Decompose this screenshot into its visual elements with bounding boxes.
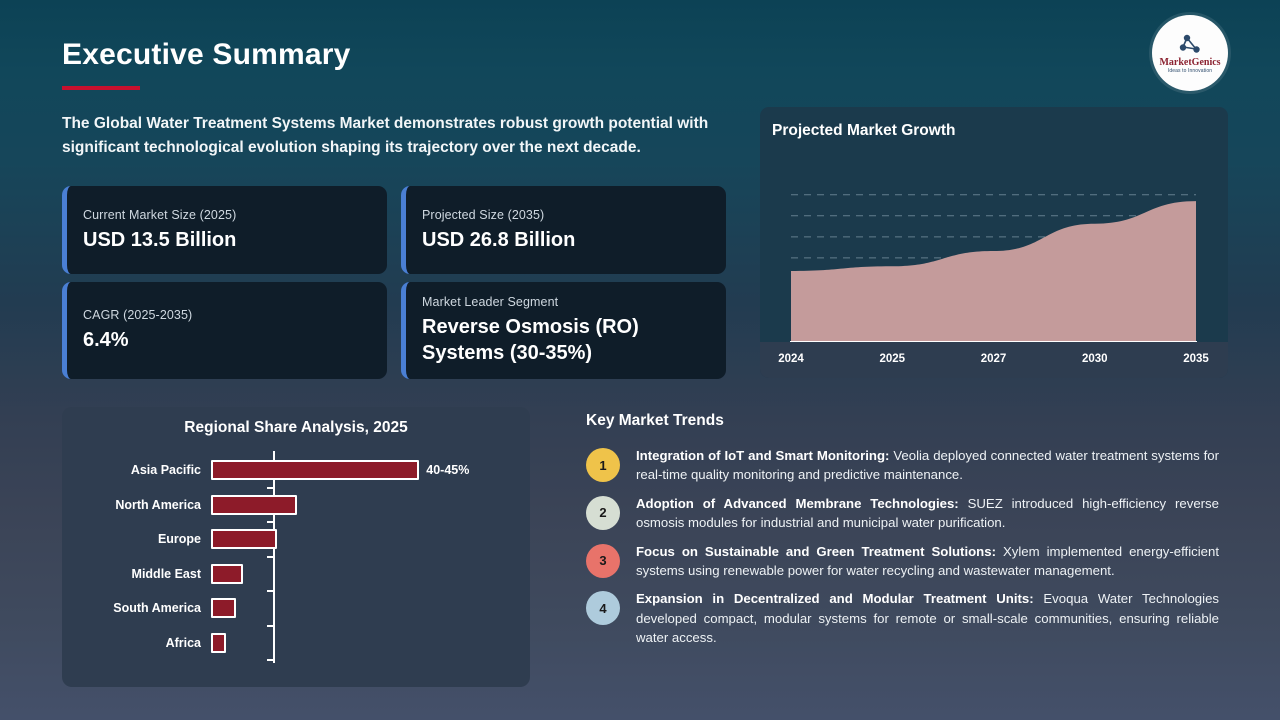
trend-text: Expansion in Decentralized and Modular T…	[636, 589, 1219, 647]
kpi-card-grid: Current Market Size (2025) USD 13.5 Bill…	[62, 186, 727, 379]
trend-item: 1Integration of IoT and Smart Monitoring…	[586, 446, 1226, 485]
trend-number-badge: 4	[586, 591, 620, 625]
x-axis-tick-label: 2025	[879, 353, 905, 365]
bar-category-label: Asia Pacific	[62, 463, 211, 477]
trend-item: 2Adoption of Advanced Membrane Technolog…	[586, 494, 1226, 533]
bar-category-label: Europe	[62, 532, 211, 546]
bar-fill	[211, 460, 419, 480]
bar-chart-row: North America	[62, 488, 530, 522]
bar-track	[211, 591, 530, 625]
trend-title: Focus on Sustainable and Green Treatment…	[636, 544, 996, 559]
kpi-label: Projected Size (2035)	[422, 208, 710, 222]
bar-track	[211, 488, 530, 522]
bar-category-label: South America	[62, 601, 211, 615]
x-axis-tick-labels: 20242025202720302035	[760, 353, 1228, 373]
area-series-fill	[791, 201, 1196, 342]
logo-tagline: Ideas to Innovation	[1168, 69, 1212, 74]
bar-value-label: 40-45%	[426, 463, 469, 477]
bar-chart-row: South America	[62, 591, 530, 625]
title-accent-rule	[62, 86, 140, 90]
kpi-label: Market Leader Segment	[422, 295, 710, 309]
bar-chart-row: Africa	[62, 626, 530, 660]
bar-track: 40-45%	[211, 453, 530, 487]
chart-title: Regional Share Analysis, 2025	[62, 419, 530, 437]
projected-market-growth-panel: Projected Market Growth 2024202520272030…	[760, 107, 1228, 378]
bar-track	[211, 626, 530, 660]
bar-category-label: Middle East	[62, 567, 211, 581]
bar-fill	[211, 564, 243, 584]
network-nodes-icon	[1177, 33, 1203, 57]
bar-track	[211, 557, 530, 591]
page-title: Executive Summary	[62, 38, 351, 72]
intro-paragraph: The Global Water Treatment Systems Marke…	[62, 112, 734, 160]
bar-chart-row: Asia Pacific40-45%	[62, 453, 530, 487]
kpi-card-projected-size: Projected Size (2035) USD 26.8 Billion	[401, 186, 726, 274]
kpi-value: USD 13.5 Billion	[83, 227, 371, 253]
bar-chart: Asia Pacific40-45%North AmericaEuropeMid…	[62, 451, 530, 681]
trend-title: Expansion in Decentralized and Modular T…	[636, 591, 1034, 606]
logo-name: MarketGenics	[1159, 58, 1220, 68]
trend-item: 4Expansion in Decentralized and Modular …	[586, 589, 1226, 647]
bar-chart-row: Europe	[62, 522, 530, 556]
kpi-value: USD 26.8 Billion	[422, 227, 710, 253]
trend-number-badge: 3	[586, 544, 620, 578]
chart-title: Projected Market Growth	[772, 122, 955, 140]
x-axis-tick-label: 2024	[778, 353, 804, 365]
x-axis-tick-label: 2027	[981, 353, 1007, 365]
y-axis-tick	[267, 659, 274, 661]
kpi-card-market-leader-segment: Market Leader Segment Reverse Osmosis (R…	[401, 282, 726, 379]
bar-fill	[211, 529, 277, 549]
bar-fill	[211, 633, 226, 653]
kpi-label: CAGR (2025-2035)	[83, 308, 371, 322]
x-axis-tick-label: 2035	[1183, 353, 1209, 365]
kpi-card-current-market-size: Current Market Size (2025) USD 13.5 Bill…	[62, 186, 387, 274]
key-market-trends-section: Key Market Trends 1Integration of IoT an…	[586, 412, 1226, 657]
bar-chart-row: Middle East	[62, 557, 530, 591]
bar-fill	[211, 598, 236, 618]
bar-fill	[211, 495, 297, 515]
kpi-value: Reverse Osmosis (RO) Systems (30-35%)	[422, 314, 710, 367]
trend-item: 3Focus on Sustainable and Green Treatmen…	[586, 542, 1226, 581]
bar-category-label: Africa	[62, 636, 211, 650]
trend-title: Adoption of Advanced Membrane Technologi…	[636, 496, 959, 511]
bar-category-label: North America	[62, 498, 211, 512]
area-chart: 20242025202720302035	[760, 147, 1228, 378]
trend-title: Integration of IoT and Smart Monitoring:	[636, 448, 889, 463]
regional-share-analysis-panel: Regional Share Analysis, 2025 Asia Pacif…	[62, 407, 530, 687]
trend-text: Integration of IoT and Smart Monitoring:…	[636, 446, 1219, 485]
trend-number-badge: 1	[586, 448, 620, 482]
brand-logo: MarketGenics Ideas to Innovation	[1152, 15, 1228, 91]
kpi-value: 6.4%	[83, 327, 371, 353]
kpi-label: Current Market Size (2025)	[83, 208, 371, 222]
x-axis-tick-label: 2030	[1082, 353, 1108, 365]
trends-list: 1Integration of IoT and Smart Monitoring…	[586, 446, 1226, 648]
kpi-card-cagr: CAGR (2025-2035) 6.4%	[62, 282, 387, 379]
trend-text: Focus on Sustainable and Green Treatment…	[636, 542, 1219, 581]
trends-heading: Key Market Trends	[586, 412, 1226, 430]
trend-text: Adoption of Advanced Membrane Technologi…	[636, 494, 1219, 533]
trend-number-badge: 2	[586, 496, 620, 530]
bar-track	[211, 522, 530, 556]
